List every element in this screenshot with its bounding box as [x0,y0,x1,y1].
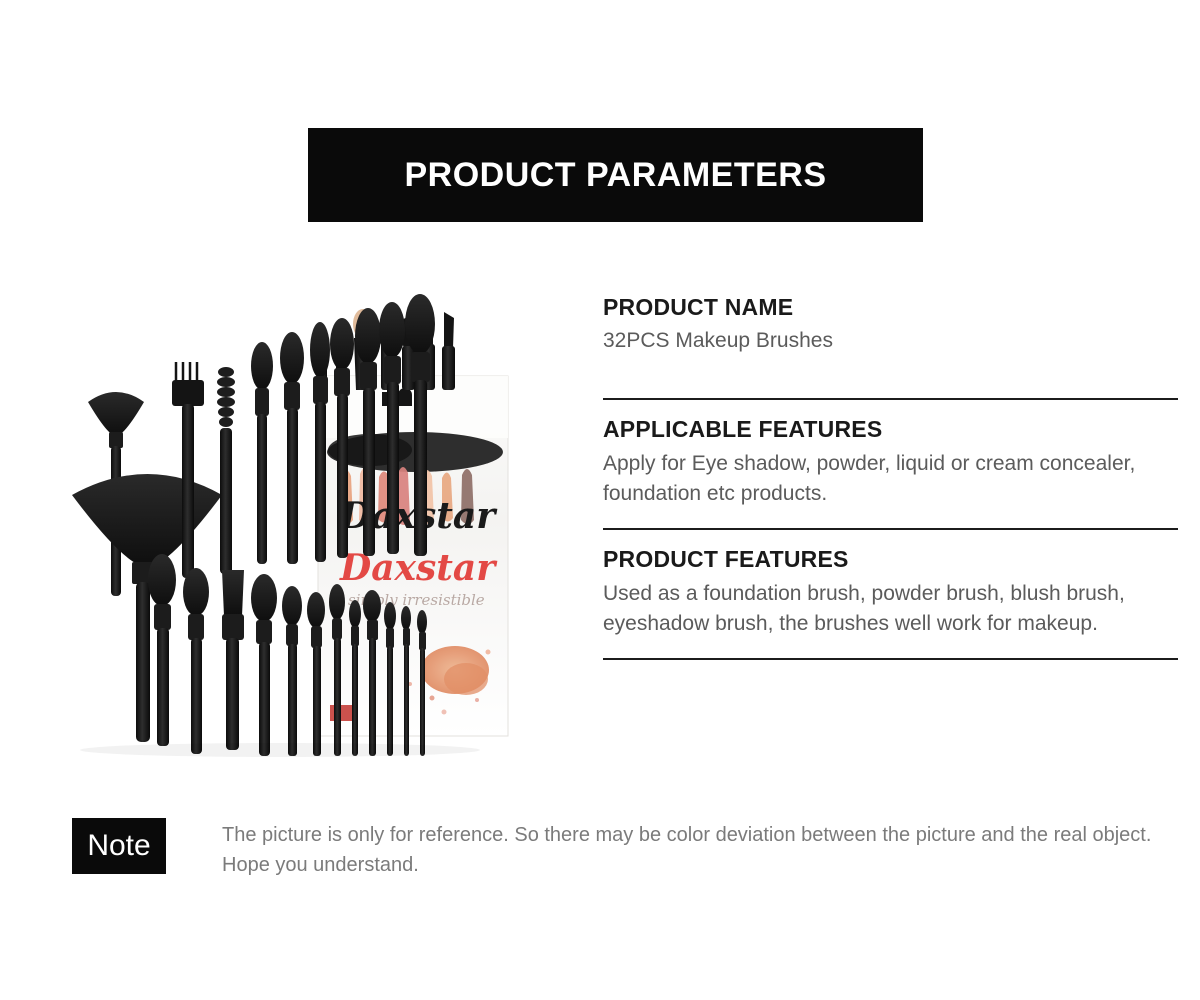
spec-heading: PRODUCT FEATURES [603,546,1178,572]
spec-body: Apply for Eye shadow, powder, liquid or … [603,449,1178,509]
note-badge-label: Note [87,831,150,861]
product-image: Daxstar Daxstar simply irresistible [30,280,550,760]
spec-body: 32PCS Makeup Brushes [603,326,1178,356]
spec-block-product-name: PRODUCT NAME 32PCS Makeup Brushes [603,294,1178,356]
spec-block-product-features: PRODUCT FEATURES Used as a foundation br… [603,546,1178,638]
spec-heading: APPLICABLE FEATURES [603,416,1178,442]
note-disclaimer-text: The picture is only for reference. So th… [222,818,1152,881]
spec-body: Used as a foundation brush, powder brush… [603,579,1178,639]
note-badge: Note [72,818,166,874]
spec-divider [603,528,1178,530]
page-title: PRODUCT PARAMETERS [404,156,826,195]
product-parameters-banner: PRODUCT PARAMETERS [308,128,923,222]
spec-block-applicable-features: APPLICABLE FEATURES Apply for Eye shadow… [603,416,1178,508]
spec-divider [603,398,1178,400]
spec-heading: PRODUCT NAME [603,294,1178,320]
spec-divider [603,658,1178,660]
note-section: Note The picture is only for reference. … [72,818,1172,881]
product-spec-list: PRODUCT NAME 32PCS Makeup Brushes APPLIC… [603,294,1178,676]
